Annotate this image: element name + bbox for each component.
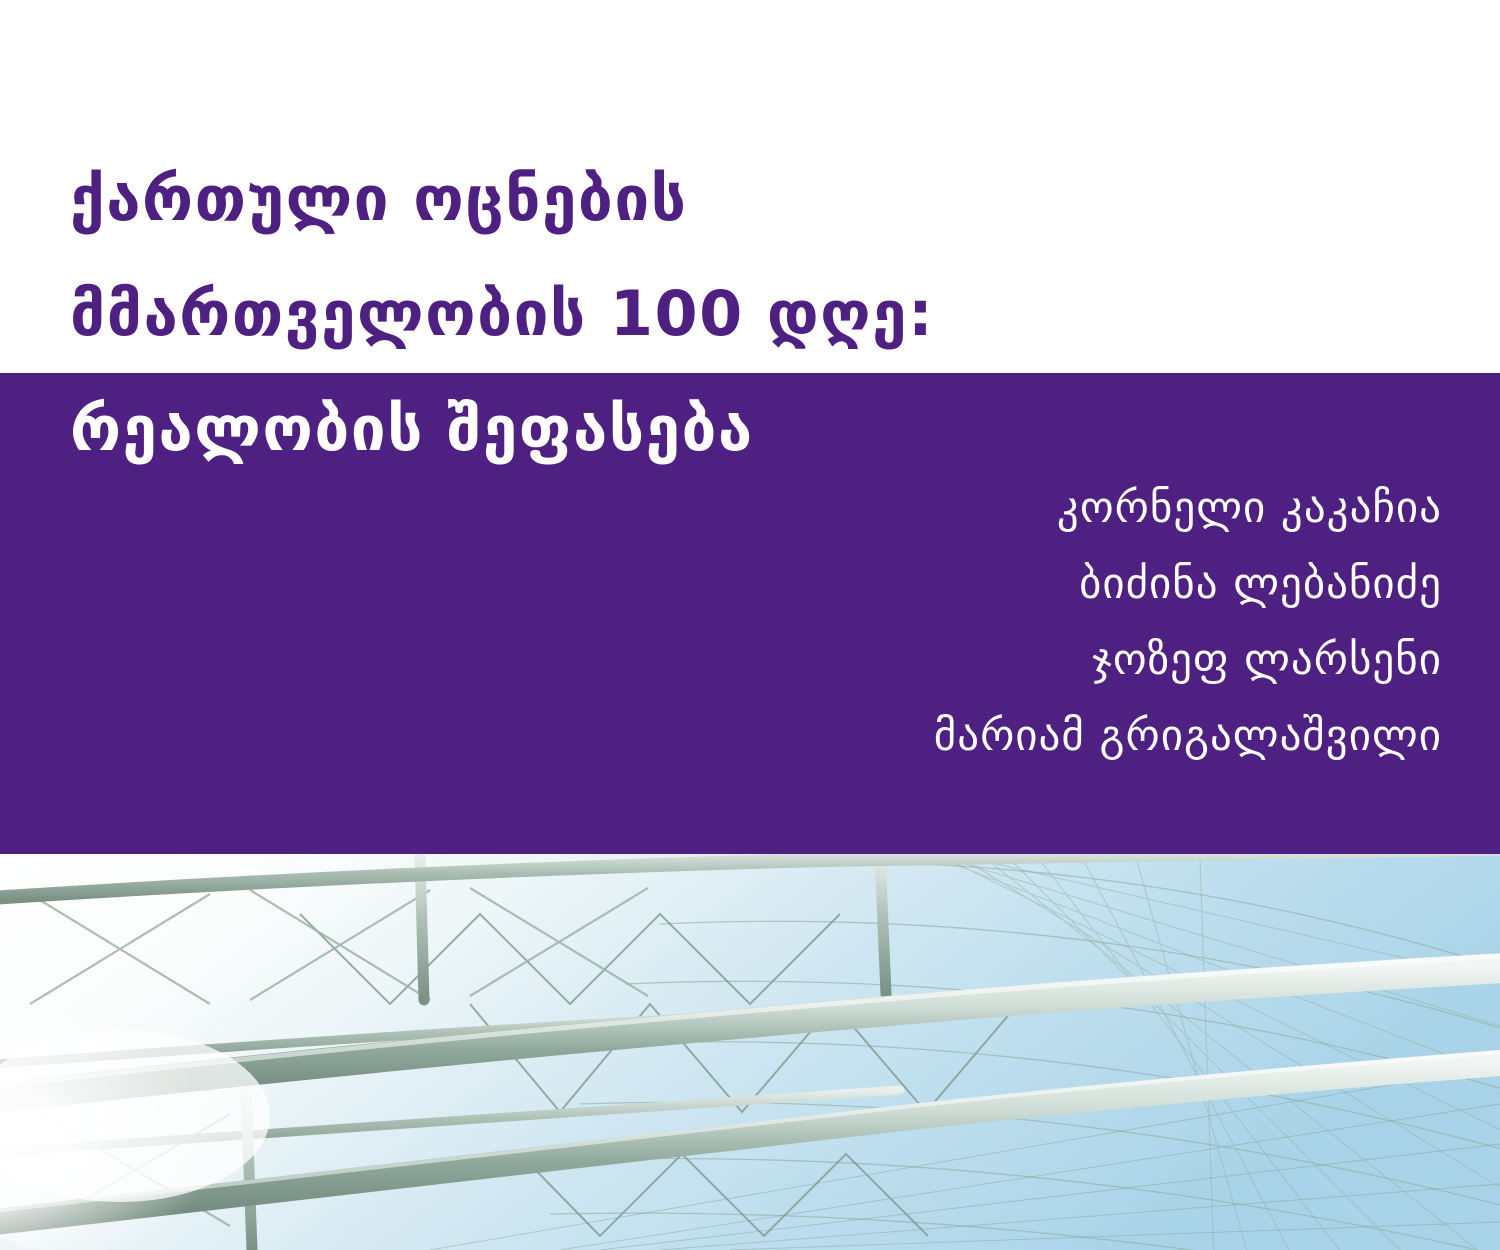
title-line-3: რეალობის შეფასება [70, 398, 754, 460]
author-list: კორნელი კაკაჩია ბიძინა ლებანიძე ჯოზეფ ლა… [542, 470, 1442, 774]
cover-photograph [0, 854, 1500, 1250]
title-white-zone: ქართული ოცნების მმართველობის 100 დღე: [0, 0, 1500, 373]
author-name: ბიძინა ლებანიძე [542, 546, 1442, 622]
author-name: ჯოზეფ ლარსენი [542, 622, 1442, 698]
author-name: მარიამ გრიგალაშვილი [542, 698, 1442, 774]
title-line-1: ქართული ოცნების [70, 168, 688, 230]
author-name: კორნელი კაკაჩია [542, 470, 1442, 546]
book-cover: ქართული ოცნების მმართველობის 100 დღე: რე… [0, 0, 1500, 1250]
title-line-2: მმართველობის 100 დღე: [70, 283, 934, 345]
roof-structure-illustration [0, 854, 1500, 1250]
